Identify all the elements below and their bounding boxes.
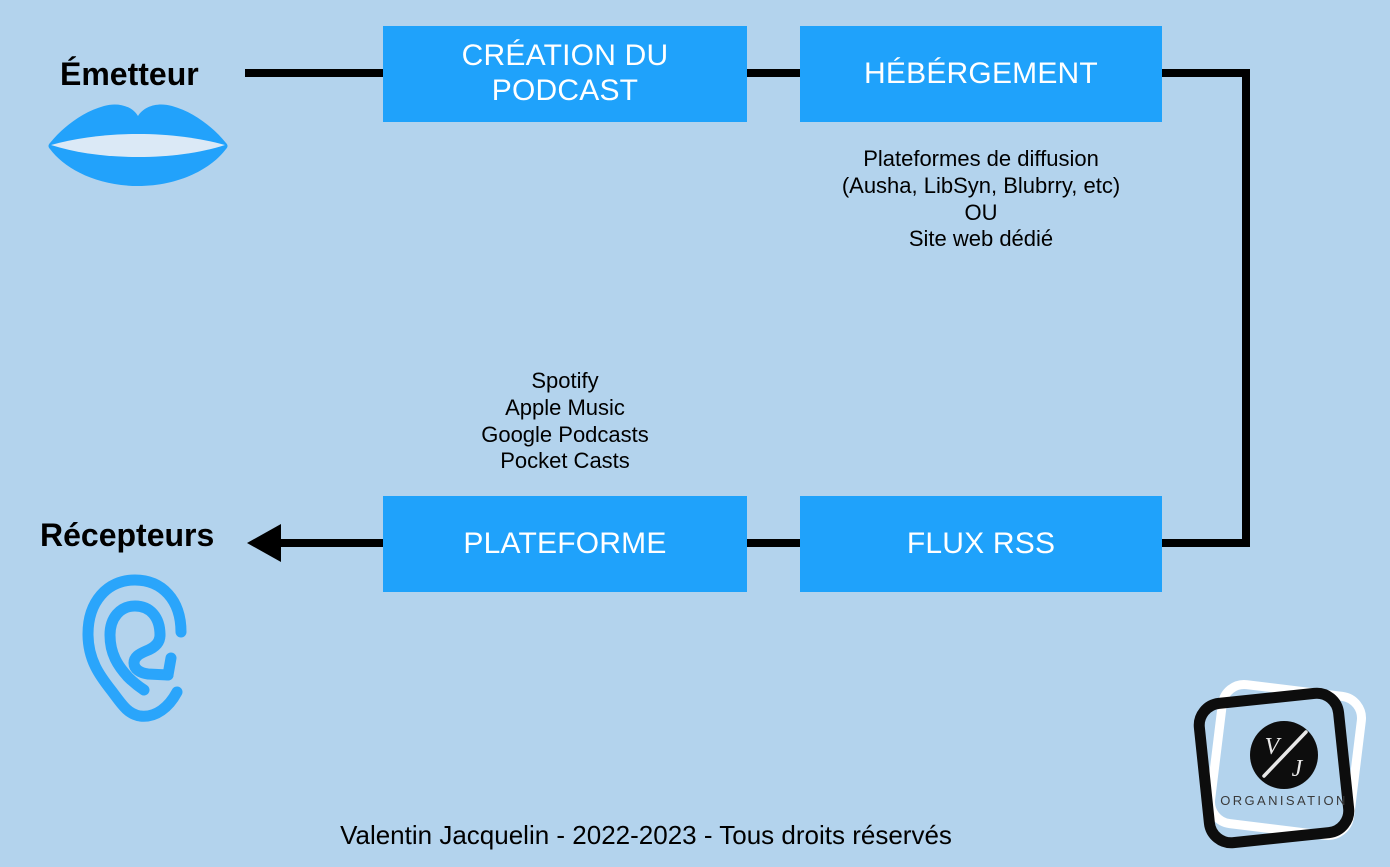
connector-plateforme-recepteurs (278, 539, 385, 547)
vj-organisation-logo: V J ORGANISATION (1186, 672, 1386, 862)
ear-icon (78, 572, 204, 724)
note-platform-list: Spotify Apple Music Google Podcasts Pock… (383, 368, 747, 475)
connector-hebergement-right (1160, 69, 1250, 77)
mouth-lips-icon (48, 104, 228, 186)
process-box-plateforme[interactable]: PLATEFORME (383, 496, 747, 592)
actor-label-recepteurs: Récepteurs (40, 517, 214, 554)
connector-rss-plateforme (745, 539, 802, 547)
connector-right-flux-rss (1160, 539, 1250, 547)
actor-label-emetteur: Émetteur (60, 56, 199, 93)
footer-copyright: Valentin Jacquelin - 2022-2023 - Tous dr… (0, 820, 1292, 851)
logo-monogram-bottom: J (1292, 756, 1304, 782)
process-box-flux-rss[interactable]: FLUX RSS (800, 496, 1162, 592)
process-box-creation-du-podcast[interactable]: CRÉATION DU PODCAST (383, 26, 747, 122)
arrow-head-icon (247, 524, 281, 562)
connector-creation-hebergement (745, 69, 802, 77)
logo-monogram-top: V (1265, 734, 1282, 760)
process-box-hebergement[interactable]: HÉBÉRGEMENT (800, 26, 1162, 122)
note-hosting-options: Plateformes de diffusion (Ausha, LibSyn,… (800, 146, 1162, 253)
connector-right-vertical (1242, 69, 1250, 547)
diagram-canvas: Émetteur Récepteurs CRÉATION DU PODCAST … (0, 0, 1390, 866)
logo-wordmark: ORGANISATION (1220, 793, 1348, 808)
connector-emetteur-creation (245, 69, 385, 77)
